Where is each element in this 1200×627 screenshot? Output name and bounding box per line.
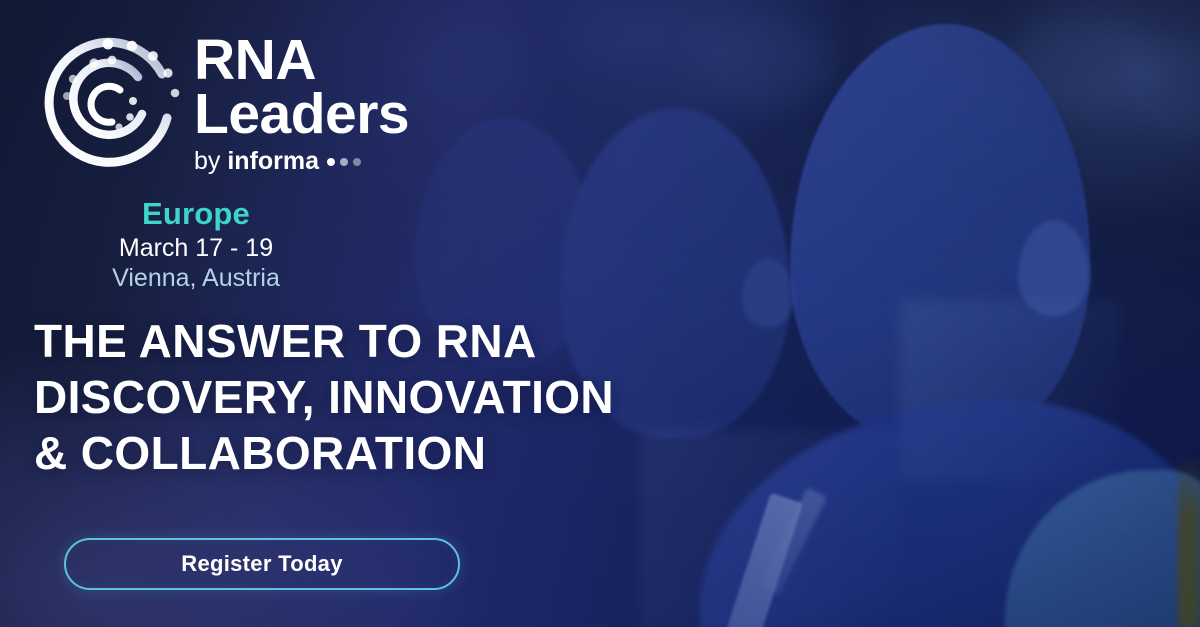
byline-text: by informa [194, 149, 319, 174]
byline-prefix: by [194, 147, 227, 175]
page-title: THE ANSWER TO RNA DISCOVERY, INNOVATION … [34, 313, 794, 481]
event-region: Europe [40, 197, 352, 232]
event-details: Europe March 17 - 19 Vienna, Austria [40, 197, 352, 294]
headline-line-2: DISCOVERY, INNOVATION [34, 369, 794, 425]
event-location: Vienna, Austria [40, 264, 352, 294]
register-today-button[interactable]: Register Today [64, 538, 460, 590]
headline-line-3: & COLLABORATION [34, 425, 794, 481]
byline-brand: informa [227, 147, 319, 175]
logo-byline: by informa [194, 149, 409, 174]
banner-content: RNA Leaders by informa Europe March 17 -… [0, 0, 1200, 627]
rna-leaders-event-banner: RNA Leaders by informa Europe March 17 -… [0, 0, 1200, 627]
logo-line-leaders: Leaders [194, 88, 409, 142]
informa-dots-icon [327, 158, 361, 166]
logo-line-rna: RNA [194, 34, 409, 88]
rna-leaders-spiral-logo-icon [34, 30, 184, 180]
logo-wordmark: RNA Leaders by informa [194, 34, 409, 174]
event-dates: March 17 - 19 [40, 234, 352, 264]
brand-logo[interactable]: RNA Leaders by informa [34, 26, 409, 180]
headline-line-1: THE ANSWER TO RNA [34, 313, 794, 369]
